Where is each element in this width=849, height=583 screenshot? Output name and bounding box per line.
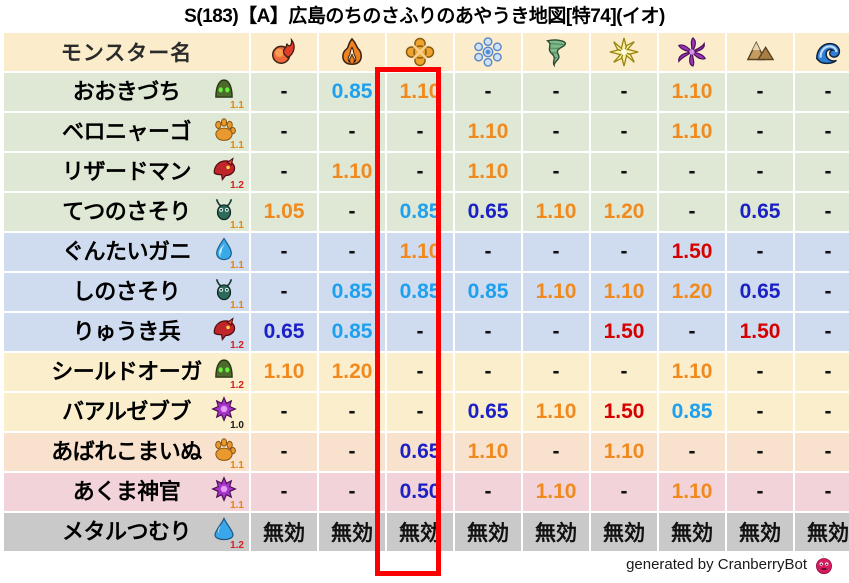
monster-name-cell[interactable]: リザードマン1.2 xyxy=(4,153,249,191)
header-element-dein[interactable] xyxy=(591,33,657,71)
green-slime-helm-icon xyxy=(209,356,243,382)
monster-name-cell[interactable]: ベロニャーゴ1.1 xyxy=(4,113,249,151)
monster-name-cell[interactable]: ぐんたいガニ1.1 xyxy=(4,233,249,271)
monster-version-label: 1.1 xyxy=(230,261,244,271)
header-element-mera[interactable] xyxy=(251,33,317,71)
resistance-cell: 1.50 xyxy=(727,313,793,351)
resistance-cell: - xyxy=(455,233,521,271)
resistance-cell: - xyxy=(795,153,849,191)
monster-badge: 1.1 xyxy=(209,436,243,468)
table-row: あばれこまいぬ1.1--0.651.10-1.10--- xyxy=(4,433,849,471)
resistance-cell: - xyxy=(727,393,793,431)
monster-version-label: 1.2 xyxy=(230,541,244,551)
monster-version-label: 1.1 xyxy=(230,461,244,471)
table-row: ベロニャーゴ1.1---1.10--1.10-- xyxy=(4,113,849,151)
resistance-cell: 0.65 xyxy=(387,433,453,471)
resistance-cell: 1.10 xyxy=(659,73,725,111)
monster-name-cell[interactable]: しのさそり1.1 xyxy=(4,273,249,311)
resistance-cell: - xyxy=(251,473,317,511)
resistance-cell: - xyxy=(319,433,385,471)
monster-badge: 1.1 xyxy=(209,236,243,268)
wave-icon xyxy=(795,37,849,67)
monster-version-label: 1.2 xyxy=(230,341,244,351)
resistance-cell: - xyxy=(727,353,793,391)
table-row: てつのさそり1.11.05-0.850.651.101.20-0.65- xyxy=(4,193,849,231)
header-element-hyado[interactable] xyxy=(455,33,521,71)
mountain-icon xyxy=(727,37,793,67)
resistance-cell: 1.10 xyxy=(319,153,385,191)
resistance-cell: - xyxy=(795,473,849,511)
paw-icon xyxy=(209,436,243,462)
resistance-cell: - xyxy=(591,473,657,511)
monster-version-label: 1.1 xyxy=(230,101,244,111)
resistance-cell: - xyxy=(523,233,589,271)
resistance-cell: - xyxy=(727,433,793,471)
monster-version-label: 1.1 xyxy=(230,141,244,151)
monster-name-cell[interactable]: てつのさそり1.1 xyxy=(4,193,249,231)
resistance-cell: - xyxy=(795,113,849,151)
table-row: ぐんたいガニ1.1--1.10---1.50-- xyxy=(4,233,849,271)
resistance-cell: 1.10 xyxy=(455,153,521,191)
snowflake-icon xyxy=(455,37,521,67)
monster-name-label: しのさそり xyxy=(73,273,181,311)
resistance-cell: 1.10 xyxy=(591,273,657,311)
resistance-cell: 無効 xyxy=(795,513,849,551)
monster-badge: 1.1 xyxy=(209,276,243,308)
resistance-cell: - xyxy=(523,433,589,471)
flame-icon xyxy=(319,37,385,67)
red-dragon-head-icon xyxy=(209,316,243,342)
resistance-cell: 1.05 xyxy=(251,193,317,231)
resistance-cell: 0.65 xyxy=(455,393,521,431)
monster-badge: 1.2 xyxy=(209,516,243,548)
resistance-cell: - xyxy=(455,313,521,351)
resistance-cell: 0.50 xyxy=(387,473,453,511)
resistance-cell: 無効 xyxy=(387,513,453,551)
resistance-cell: 1.20 xyxy=(591,193,657,231)
resistance-cell: 1.10 xyxy=(455,113,521,151)
monster-version-label: 1.1 xyxy=(230,221,244,231)
resistance-cell: - xyxy=(251,153,317,191)
resistance-cell: - xyxy=(387,153,453,191)
resistance-cell: - xyxy=(387,113,453,151)
monster-name-label: あくま神官 xyxy=(73,473,181,511)
table-row: しのさそり1.1-0.850.850.851.101.101.200.65- xyxy=(4,273,849,311)
resistance-cell: 1.10 xyxy=(659,113,725,151)
monster-badge: 1.1 xyxy=(209,116,243,148)
resistance-cell: 1.10 xyxy=(523,393,589,431)
bug-icon xyxy=(209,196,243,222)
monster-name-label: りゅうき兵 xyxy=(73,313,181,351)
resistance-cell: - xyxy=(727,473,793,511)
resistance-cell: - xyxy=(727,113,793,151)
resistance-cell: - xyxy=(727,233,793,271)
monster-badge: 1.2 xyxy=(209,316,243,348)
resistance-cell: - xyxy=(319,393,385,431)
resistance-cell: 1.10 xyxy=(523,273,589,311)
tornado-icon xyxy=(523,37,589,67)
resistance-cell: 1.10 xyxy=(523,193,589,231)
green-slime-helm-icon xyxy=(209,76,243,102)
resistance-cell: 1.10 xyxy=(659,353,725,391)
resistance-cell: - xyxy=(319,113,385,151)
resistance-cell: 0.85 xyxy=(455,273,521,311)
resistance-cell: - xyxy=(727,153,793,191)
header-element-bagi[interactable] xyxy=(523,33,589,71)
monster-version-label: 1.1 xyxy=(230,501,244,511)
monster-version-label: 1.1 xyxy=(230,301,244,311)
resistance-cell: - xyxy=(251,233,317,271)
resistance-cell: - xyxy=(659,193,725,231)
resistance-cell: 1.10 xyxy=(455,433,521,471)
bug-icon xyxy=(209,276,243,302)
table-row: メタルつむり1.2無効無効無効無効無効無効無効無効無効 xyxy=(4,513,849,551)
resistance-cell: - xyxy=(591,233,657,271)
resistance-cell: 0.65 xyxy=(251,313,317,351)
monster-name-label: シールドオーガ xyxy=(51,353,202,391)
monster-name-label: バアルゼブブ xyxy=(62,393,191,431)
footer-label: generated by CranberryBot xyxy=(626,556,807,573)
header-element-dorma[interactable] xyxy=(659,33,725,71)
monster-name-cell[interactable]: シールドオーガ1.2 xyxy=(4,353,249,391)
purple-demon-icon xyxy=(209,476,243,502)
resistance-table-wrap: モンスター名おおきづち1.1-0.851.10---1.10--ベロニャーゴ1.… xyxy=(0,31,849,553)
header-element-io[interactable] xyxy=(387,33,453,71)
resistance-cell: 1.10 xyxy=(387,73,453,111)
resistance-cell: - xyxy=(591,153,657,191)
resistance-cell: 無効 xyxy=(251,513,317,551)
resistance-cell: - xyxy=(319,233,385,271)
resistance-cell: 無効 xyxy=(319,513,385,551)
resistance-cell: - xyxy=(795,233,849,271)
monster-name-label: おおきづち xyxy=(73,73,181,111)
resistance-cell: - xyxy=(251,393,317,431)
monster-name-label: あばれこまいぬ xyxy=(51,433,202,471)
resistance-cell: - xyxy=(795,433,849,471)
resistance-cell: 0.65 xyxy=(455,193,521,231)
monster-version-label: 1.0 xyxy=(230,421,244,431)
resistance-cell: - xyxy=(523,73,589,111)
resistance-cell: 0.65 xyxy=(727,273,793,311)
monster-name-cell[interactable]: バアルゼブブ1.0 xyxy=(4,393,249,431)
resistance-cell: - xyxy=(727,73,793,111)
resistance-cell: - xyxy=(591,113,657,151)
resistance-cell: 無効 xyxy=(591,513,657,551)
monster-name-cell[interactable]: あくま神官1.1 xyxy=(4,473,249,511)
resistance-cell: 1.10 xyxy=(591,433,657,471)
resistance-cell: - xyxy=(659,433,725,471)
cranberry-icon xyxy=(813,553,835,575)
resistance-cell: 1.10 xyxy=(387,233,453,271)
resistance-cell: - xyxy=(523,353,589,391)
resistance-cell: 0.85 xyxy=(319,273,385,311)
resistance-cell: - xyxy=(523,313,589,351)
resistance-cell: - xyxy=(387,313,453,351)
resistance-cell: 1.50 xyxy=(659,233,725,271)
monster-name-cell[interactable]: あばれこまいぬ1.1 xyxy=(4,433,249,471)
resistance-cell: 0.85 xyxy=(387,273,453,311)
paw-icon xyxy=(209,116,243,142)
resistance-cell: - xyxy=(455,473,521,511)
resistance-cell: - xyxy=(795,313,849,351)
water-drop-icon xyxy=(209,236,243,262)
monster-version-label: 1.2 xyxy=(230,181,244,191)
monster-badge: 1.0 xyxy=(209,396,243,428)
header-monster-name: モンスター名 xyxy=(4,33,249,71)
monster-name-label: ベロニャーゴ xyxy=(62,113,191,151)
table-row: シールドオーガ1.21.101.20----1.10-- xyxy=(4,353,849,391)
monster-badge: 1.1 xyxy=(209,76,243,108)
resistance-cell: - xyxy=(795,73,849,111)
monster-badge: 1.1 xyxy=(209,476,243,508)
resistance-cell: 1.50 xyxy=(591,313,657,351)
resistance-cell: - xyxy=(455,73,521,111)
monster-name-label: メタルつむり xyxy=(62,513,191,551)
monster-name-label: ぐんたいガニ xyxy=(62,233,191,271)
monster-version-label: 1.2 xyxy=(230,381,244,391)
blue-slime-icon xyxy=(209,516,243,542)
resistance-cell: - xyxy=(387,393,453,431)
footer: generated by CranberryBot xyxy=(626,553,835,575)
resistance-cell: 0.85 xyxy=(659,393,725,431)
resistance-cell: 1.20 xyxy=(319,353,385,391)
table-row: あくま神官1.1--0.50-1.10-1.10-- xyxy=(4,473,849,511)
monster-badge: 1.1 xyxy=(209,196,243,228)
resistance-cell: - xyxy=(523,153,589,191)
resistance-cell: - xyxy=(795,353,849,391)
resistance-cell: - xyxy=(251,113,317,151)
resistance-cell: 0.85 xyxy=(319,73,385,111)
red-dragon-head-icon xyxy=(209,156,243,182)
resistance-cell: - xyxy=(659,313,725,351)
resistance-cell: - xyxy=(251,273,317,311)
resistance-cell: 1.20 xyxy=(659,273,725,311)
light-star-icon xyxy=(591,37,657,67)
fire-ball-icon xyxy=(251,37,317,67)
resistance-cell: - xyxy=(591,353,657,391)
resistance-cell: 0.85 xyxy=(387,193,453,231)
resistance-cell: - xyxy=(523,113,589,151)
resistance-cell: - xyxy=(591,73,657,111)
resistance-cell: - xyxy=(455,353,521,391)
resistance-table: モンスター名おおきづち1.1-0.851.10---1.10--ベロニャーゴ1.… xyxy=(2,31,849,553)
resistance-cell: 1.10 xyxy=(523,473,589,511)
resistance-cell: - xyxy=(319,193,385,231)
header-element-zaki[interactable] xyxy=(795,33,849,71)
resistance-cell: - xyxy=(795,393,849,431)
purple-demon-icon xyxy=(209,396,243,422)
resistance-cell: 無効 xyxy=(659,513,725,551)
header-element-jiba[interactable] xyxy=(727,33,793,71)
monster-badge: 1.2 xyxy=(209,156,243,188)
resistance-cell: - xyxy=(251,433,317,471)
resistance-cell: 無効 xyxy=(455,513,521,551)
resistance-cell: 1.10 xyxy=(659,473,725,511)
header-element-gira[interactable] xyxy=(319,33,385,71)
resistance-cell: 0.65 xyxy=(727,193,793,231)
resistance-cell: - xyxy=(251,73,317,111)
monster-badge: 1.2 xyxy=(209,356,243,388)
monster-name-label: リザードマン xyxy=(62,153,191,191)
monster-name-cell[interactable]: メタルつむり1.2 xyxy=(4,513,249,551)
monster-name-cell[interactable]: りゅうき兵1.2 xyxy=(4,313,249,351)
resistance-cell: - xyxy=(795,273,849,311)
resistance-cell: 1.50 xyxy=(591,393,657,431)
resistance-cell: 無効 xyxy=(523,513,589,551)
resistance-cell: - xyxy=(387,353,453,391)
table-row: リザードマン1.2-1.10-1.10----- xyxy=(4,153,849,191)
table-body: モンスター名おおきづち1.1-0.851.10---1.10--ベロニャーゴ1.… xyxy=(4,33,849,551)
resistance-cell: 1.10 xyxy=(251,353,317,391)
table-row: りゅうき兵1.20.650.85---1.50-1.50- xyxy=(4,313,849,351)
resistance-cell: - xyxy=(795,193,849,231)
monster-name-label: てつのさそり xyxy=(62,193,191,231)
resistance-cell: 無効 xyxy=(727,513,793,551)
page-title: S(183)【A】広島のちのさふりのあやうき地図[特74](イオ) xyxy=(0,0,849,31)
monster-name-cell[interactable]: おおきづち1.1 xyxy=(4,73,249,111)
header-row: モンスター名 xyxy=(4,33,849,71)
explosion-icon xyxy=(387,37,453,67)
table-row: バアルゼブブ1.0---0.651.101.500.85-- xyxy=(4,393,849,431)
resistance-cell: 0.85 xyxy=(319,313,385,351)
table-row: おおきづち1.1-0.851.10---1.10-- xyxy=(4,73,849,111)
dark-swirl-icon xyxy=(659,37,725,67)
resistance-cell: - xyxy=(659,153,725,191)
resistance-cell: - xyxy=(319,473,385,511)
